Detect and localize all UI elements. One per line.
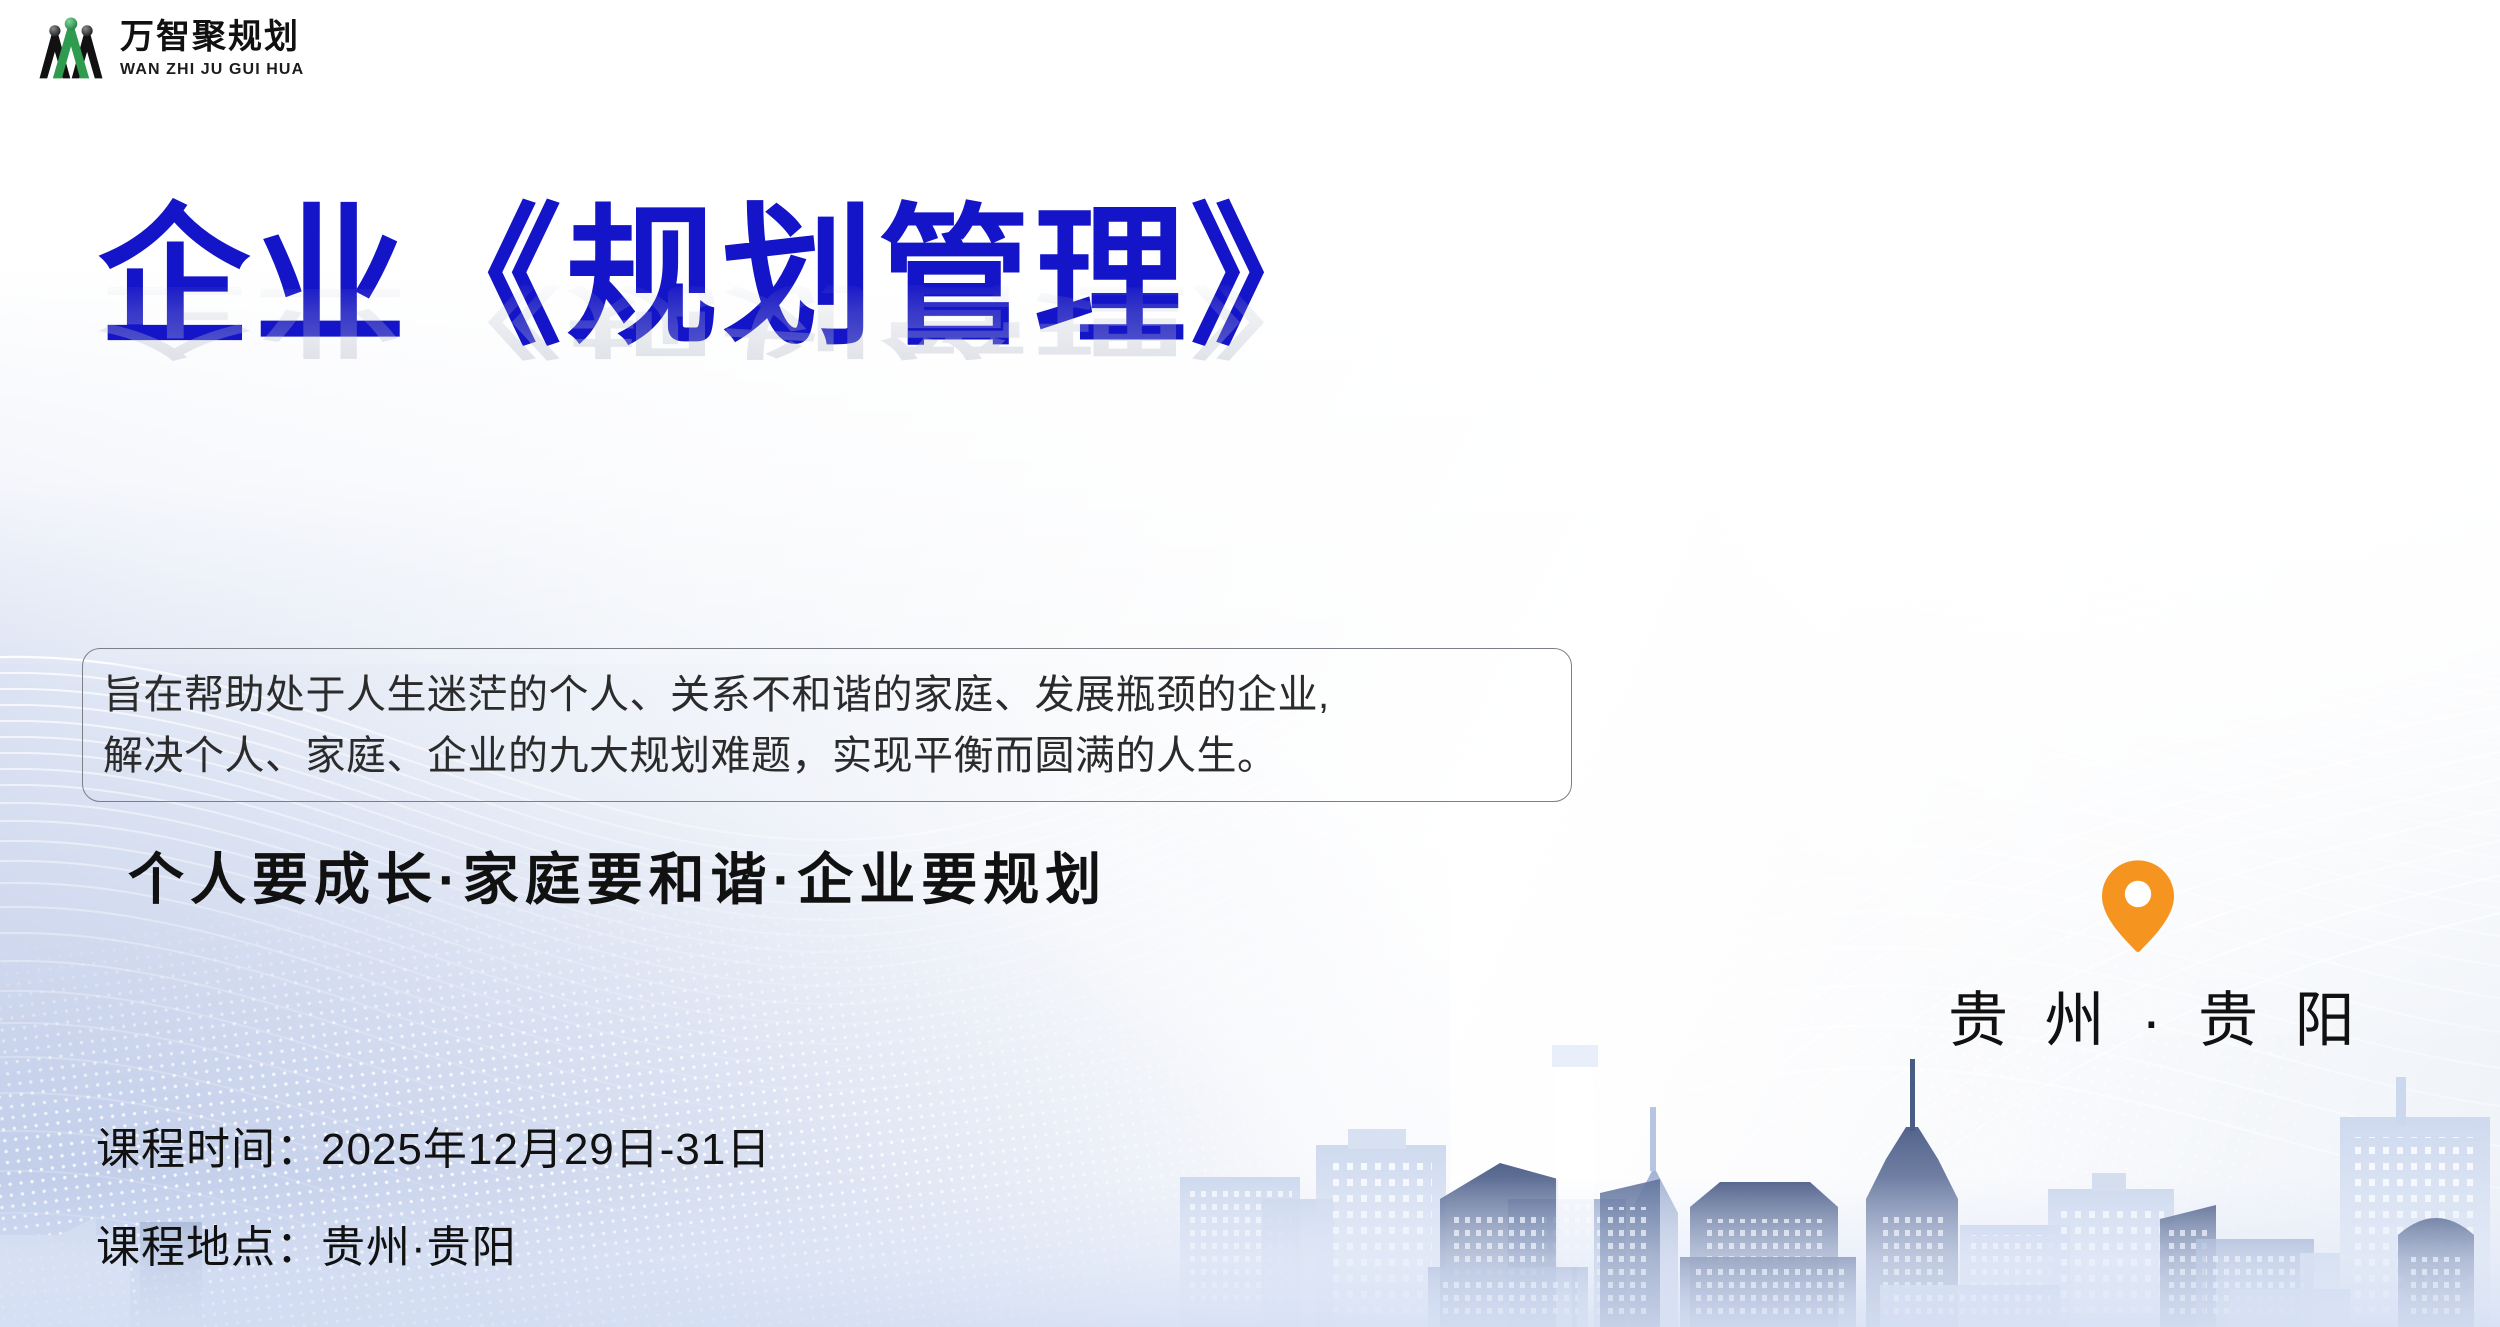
description-line-2: 解决个人、家庭、企业的九大规划难题，实现平衡而圆满的人生。 [103, 726, 1549, 787]
page-title: 企业《规划管理》 [98, 196, 1346, 360]
brand-name-en: WAN ZHI JU GUI HUA [120, 62, 304, 78]
brand-logo-text: 万智聚规划 WAN ZHI JU GUI HUA [120, 21, 304, 78]
hero-title-block: 企业《规划管理》 企业《规划管理》 [98, 196, 1346, 526]
three-people-mountain-logo-icon [36, 14, 106, 84]
course-place: 课程地点：贵州·贵阳 [96, 1226, 771, 1270]
location-city: 贵 州 · 贵 阳 [1948, 972, 2328, 1059]
poster-canvas: 万智聚规划 WAN ZHI JU GUI HUA 企业《规划管理》 企业《规划管… [0, 0, 2500, 1327]
course-info: 课程时间：2025年12月29日-31日 课程地点：贵州·贵阳 [96, 1128, 771, 1270]
hero-slogan: 个人要成长·家庭要和谐·企业要规划 [128, 835, 1107, 916]
brand-logo[interactable]: 万智聚规划 WAN ZHI JU GUI HUA [36, 14, 304, 84]
description-line-1: 旨在帮助处于人生迷茫的个人、关系不和谐的家庭、发展瓶颈的企业, [103, 665, 1549, 726]
course-time: 课程时间：2025年12月29日-31日 [96, 1128, 771, 1172]
brand-name-cn: 万智聚规划 [120, 21, 304, 55]
location-block: 贵 州 · 贵 阳 [1948, 858, 2328, 1059]
map-pin-icon [2098, 858, 2178, 954]
description-box: 旨在帮助处于人生迷茫的个人、关系不和谐的家庭、发展瓶颈的企业, 解决个人、家庭、… [82, 648, 1572, 802]
